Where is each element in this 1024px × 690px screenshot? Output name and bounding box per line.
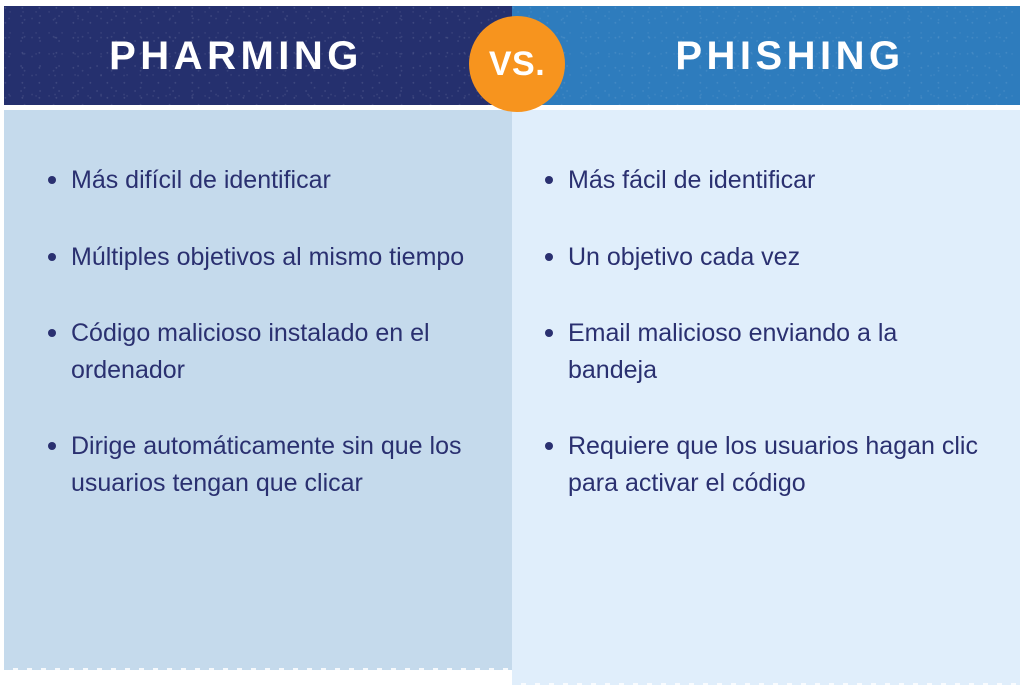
list-item-label: Email malicioso enviando a la bandeja <box>568 315 988 388</box>
column-pharming: Más difícil de identificar Múltiples obj… <box>4 110 512 670</box>
torn-edge-right <box>512 683 1020 688</box>
bullet-dot-icon <box>48 442 56 450</box>
list-item-label: Requiere que los usuarios hagan clic par… <box>568 428 988 501</box>
list-item: Un objetivo cada vez <box>545 239 1024 276</box>
column-phishing: Más fácil de identificar Un objetivo cad… <box>512 110 1020 685</box>
list-item-label: Más fácil de identificar <box>568 162 815 199</box>
list-item-label: Dirige automáticamente sin que los usuar… <box>71 428 466 501</box>
list-item-label: Código malicioso instalado en el ordenad… <box>71 315 466 388</box>
torn-edge-left <box>4 668 512 673</box>
list-item: Múltiples objetivos al mismo tiempo <box>48 239 556 276</box>
bullet-dot-icon <box>545 253 553 261</box>
list-item: Dirige automáticamente sin que los usuar… <box>48 428 556 501</box>
list-item-label: Múltiples objetivos al mismo tiempo <box>71 239 464 276</box>
header-title-pharming: PHARMING <box>109 36 363 76</box>
bullet-dot-icon <box>48 329 56 337</box>
header-title-phishing: PHISHING <box>675 36 904 76</box>
list-item: Email malicioso enviando a la bandeja <box>545 315 1024 388</box>
vs-label: VS. <box>489 47 545 81</box>
vs-badge-circle: VS. <box>469 16 565 112</box>
header-left-pharming: PHARMING <box>4 6 512 105</box>
list-item-label: Más difícil de identificar <box>71 162 331 199</box>
comparison-infographic: PHARMING PHISHING VS. Más difícil de ide… <box>0 0 1024 690</box>
bullet-dot-icon <box>545 442 553 450</box>
bullet-dot-icon <box>48 176 56 184</box>
list-item: Más fácil de identificar <box>545 162 1024 199</box>
bullet-dot-icon <box>545 329 553 337</box>
bullet-dot-icon <box>545 176 553 184</box>
infographic-header: PHARMING PHISHING VS. <box>4 6 1020 105</box>
list-item-label: Un objetivo cada vez <box>568 239 800 276</box>
pharming-bullet-list: Más difícil de identificar Múltiples obj… <box>4 162 556 541</box>
comparison-body: Más difícil de identificar Múltiples obj… <box>4 110 1020 686</box>
phishing-bullet-list: Más fácil de identificar Un objetivo cad… <box>512 162 1024 541</box>
bullet-dot-icon <box>48 253 56 261</box>
header-right-phishing: PHISHING <box>512 6 1020 105</box>
list-item: Más difícil de identificar <box>48 162 556 199</box>
list-item: Código malicioso instalado en el ordenad… <box>48 315 556 388</box>
list-item: Requiere que los usuarios hagan clic par… <box>545 428 1024 501</box>
